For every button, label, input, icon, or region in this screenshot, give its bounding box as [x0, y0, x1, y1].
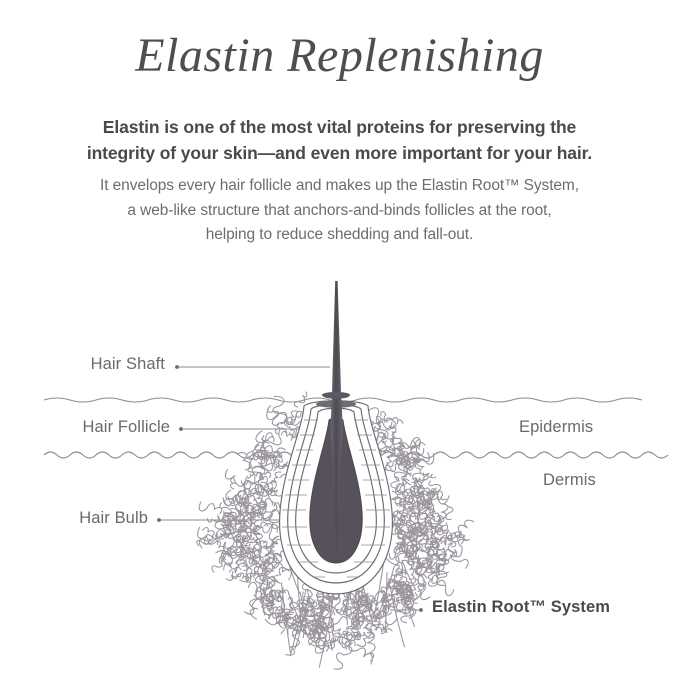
hair-follicle-diagram	[0, 0, 679, 679]
label-hair-bulb: Hair Bulb	[0, 509, 148, 528]
hair-shaft-collar	[322, 392, 350, 399]
label-elastin-root-system: Elastin Root™ System	[432, 598, 610, 617]
infographic-page: Elastin Replenishing Elastin is one of t…	[0, 0, 679, 679]
label-epidermis: Epidermis	[519, 418, 593, 437]
label-dermis: Dermis	[543, 471, 596, 490]
label-hair-shaft: Hair Shaft	[0, 355, 165, 374]
label-hair-follicle: Hair Follicle	[0, 418, 170, 437]
